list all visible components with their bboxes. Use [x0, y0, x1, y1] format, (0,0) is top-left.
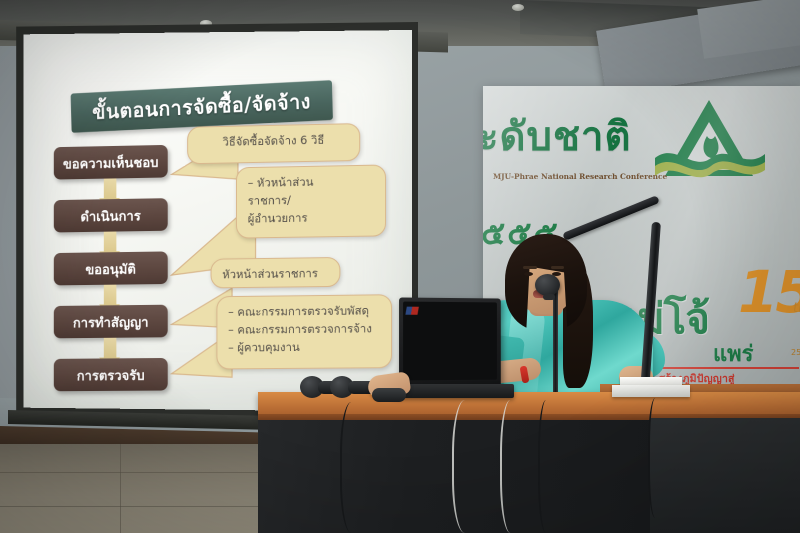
cable	[538, 400, 558, 533]
callout-line: ผู้อำนวยการ	[248, 208, 374, 228]
callout-line: – คณะกรรมการตรวจรับพัสดุ	[228, 302, 380, 321]
flow-arrow	[104, 285, 117, 306]
flow-step-label: ขออนุมัติ	[85, 257, 136, 279]
flow-step-5: การตรวจรับ	[54, 358, 168, 391]
flow-arrow	[104, 338, 117, 359]
presentation-slide: ขั้นตอนการจัดซื้อ/จัดจ้าง ขอความเห็นชอบ …	[27, 34, 410, 408]
callout-methods: วิธีจัดซื้อจัดจ้าง 6 วิธี	[187, 123, 360, 164]
microphone-ring	[543, 294, 555, 300]
podium-lamp-base	[612, 385, 690, 397]
callout-line: – หัวหน้าส่วน	[248, 173, 374, 193]
flow-arrow	[104, 178, 117, 199]
thinkpad-logo-icon	[405, 307, 418, 315]
callout-head-of-agency: หัวหน้าส่วนราชการ	[211, 257, 341, 288]
flow-step-label: การทำสัญญา	[73, 310, 149, 332]
flow-arrow	[104, 232, 117, 253]
ceiling-spotlight	[512, 4, 524, 11]
gooseneck-microphone-head	[535, 274, 560, 296]
cable	[452, 400, 484, 533]
flow-step-label: ขอความเห็นชอบ	[63, 151, 159, 174]
flow-step-label: การตรวจรับ	[77, 364, 145, 386]
flow-step-3: ขออนุมัติ	[54, 251, 168, 285]
flow-step-1: ขอความเห็นชอบ	[54, 145, 168, 180]
callout-line: ราชการ/	[248, 190, 374, 210]
callout-line: – คณะกรรมการตรวจการจ้าง	[228, 320, 380, 339]
cable	[500, 400, 526, 533]
podium-right-side	[650, 418, 800, 533]
callout-line: – ผู้ควบคุมงาน	[228, 338, 380, 357]
flow-step-2: ดำเนินการ	[54, 198, 168, 232]
callout-line: วิธีจัดซื้อจัดจ้าง 6 วิธี	[199, 131, 348, 152]
callout-approver: – หัวหน้าส่วน ราชการ/ ผู้อำนวยการ	[236, 164, 386, 238]
callout-committees: – คณะกรรมการตรวจรับพัสดุ – คณะกรรมการตรว…	[216, 294, 392, 369]
flow-step-label: ดำเนินการ	[80, 204, 140, 227]
laptop-screen	[399, 297, 501, 390]
callout-line: หัวหน้าส่วนราชการ	[222, 265, 328, 284]
gooseneck-microphone-stem	[553, 286, 558, 394]
cable	[340, 402, 368, 533]
computer-mouse	[372, 388, 406, 402]
flow-step-4: การทำสัญญา	[54, 305, 168, 339]
conference-presentation-photo: ขั้นตอนการจัดซื้อ/จัดจ้าง ขอความเห็นชอบ …	[0, 0, 800, 533]
cable	[648, 398, 666, 518]
